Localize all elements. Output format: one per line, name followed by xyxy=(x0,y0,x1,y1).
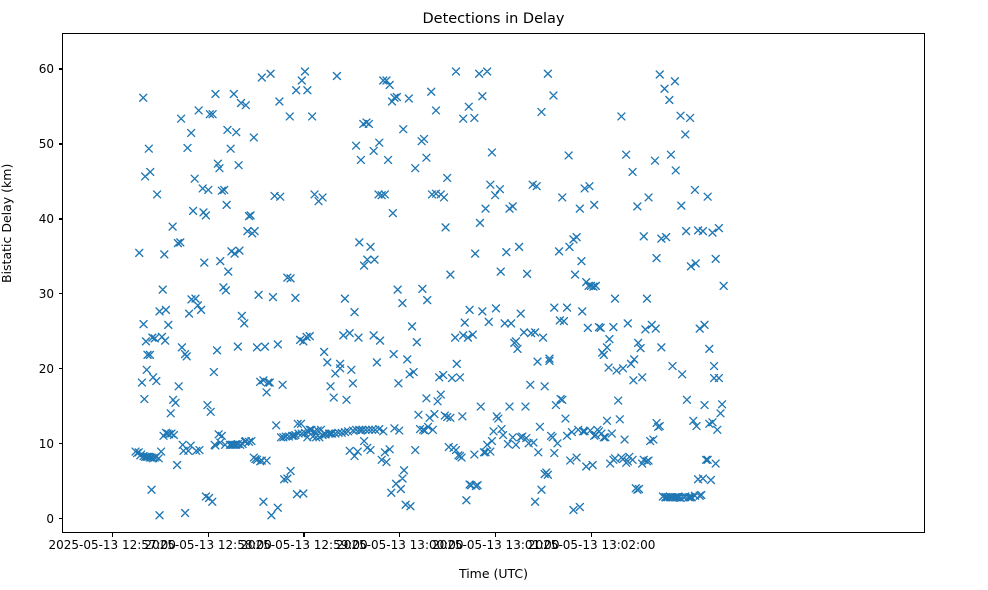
y-tick-label: 40 xyxy=(39,212,54,226)
y-tick-mark xyxy=(59,143,63,144)
y-tick-label: 60 xyxy=(39,62,54,76)
y-tick-mark xyxy=(59,368,63,369)
x-tick-mark xyxy=(303,533,304,537)
scatter-marker-set xyxy=(132,68,727,519)
x-tick-mark xyxy=(112,533,113,537)
x-tick-mark xyxy=(399,533,400,537)
x-tick-mark xyxy=(495,533,496,537)
y-tick-mark xyxy=(59,518,63,519)
y-axis-label: Bistatic Delay (km) xyxy=(0,164,14,283)
y-tick-mark xyxy=(59,218,63,219)
y-tick-label: 10 xyxy=(39,437,54,451)
x-axis-label: Time (UTC) xyxy=(62,566,925,581)
y-tick-mark xyxy=(59,443,63,444)
y-tick-label: 0 xyxy=(46,512,54,526)
plot-area xyxy=(62,33,925,533)
x-tick-mark xyxy=(208,533,209,537)
y-tick-mark xyxy=(59,68,63,69)
y-tick-label: 20 xyxy=(39,362,54,376)
y-tick-label: 30 xyxy=(39,287,54,301)
figure-canvas: Detections in Delay Bistatic Delay (km) … xyxy=(0,0,988,590)
y-tick-label: 50 xyxy=(39,137,54,151)
x-tick-mark xyxy=(591,533,592,537)
y-tick-mark xyxy=(59,293,63,294)
scatter-points-layer xyxy=(63,34,925,533)
x-tick-label: 2025-05-13 13:02:00 xyxy=(528,538,655,552)
chart-title: Detections in Delay xyxy=(62,10,925,28)
